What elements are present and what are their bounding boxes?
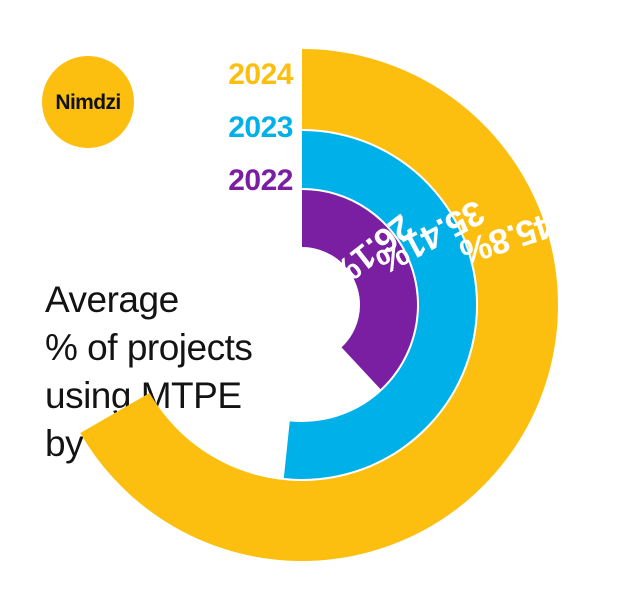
arc-band-group: [80, 49, 558, 561]
radial-bar-chart: 26.1%35.41%45.8%: [0, 0, 625, 604]
infographic-canvas: Nimdzi 2024 2023 2022 Average % of proje…: [0, 0, 625, 604]
arc-band-2024: [80, 49, 558, 561]
